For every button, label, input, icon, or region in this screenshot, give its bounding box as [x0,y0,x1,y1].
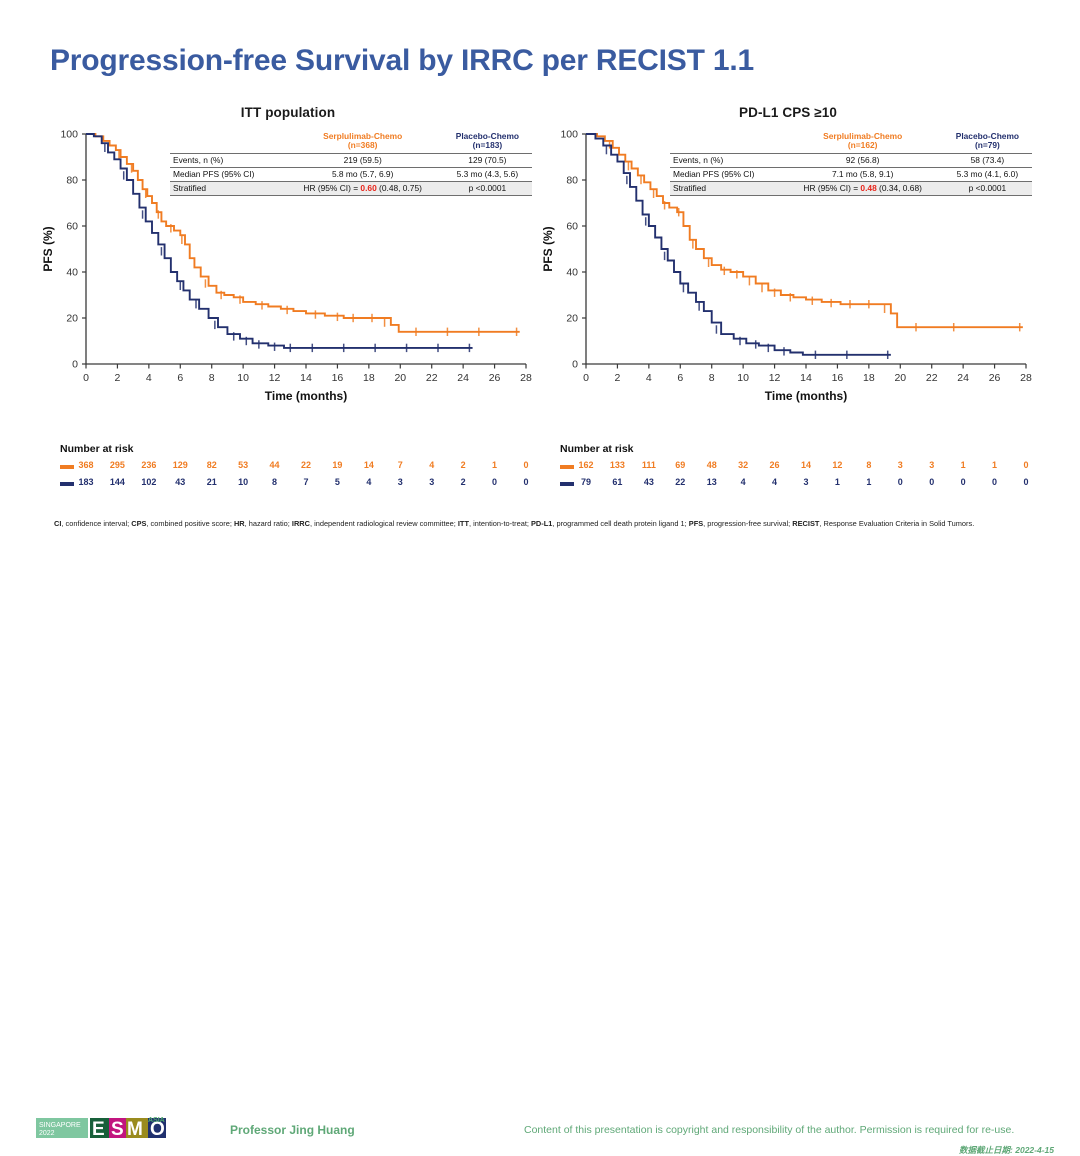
copyright-notice: Content of this presentation is copyrigh… [524,1124,1014,1136]
legend-key-placebo [60,482,74,486]
risk-value: 22 [667,477,693,487]
events-placebo: 58 (73.4) [943,153,1032,167]
risk-value: 0 [513,477,539,487]
median-label: Median PFS (95% CI) [170,167,283,181]
svg-text:8: 8 [709,372,715,384]
svg-text:0: 0 [83,372,89,384]
svg-text:10: 10 [737,372,749,384]
median-serplulimab: 5.8 mo (5.7, 6.9) [283,167,443,181]
risk-value: 53 [230,460,256,470]
svg-text:12: 12 [269,372,281,384]
risk-value: 5 [324,477,350,487]
svg-text:22: 22 [926,372,938,384]
risk-value: 4 [762,477,788,487]
svg-text:2: 2 [615,372,621,384]
risk-value: 13 [699,477,725,487]
risk-value: 4 [419,460,445,470]
risk-value: 1 [482,460,508,470]
stratified-label: Stratified [170,181,283,195]
stats-table-cps10: Serplulimab-Chemo(n=162) Placebo-Chemo(n… [670,130,1032,196]
risk-value: 0 [513,460,539,470]
svg-text:16: 16 [332,372,344,384]
svg-text:14: 14 [300,372,312,384]
panel-itt: ITT population 0204060801000246810121416… [38,105,538,435]
svg-text:0: 0 [583,372,589,384]
number-at-risk-itt: Number at risk 3682952361298253442219147… [60,443,134,494]
risk-row-serplulimab: 36829523612982534422191474210 [60,460,134,477]
table-row: Stratified HR (95% CI) = 0.60 (0.48, 0.7… [170,181,532,195]
risk-value: 43 [167,477,193,487]
risk-value: 61 [604,477,630,487]
risk-value: 133 [604,460,630,470]
risk-value: 7 [293,477,319,487]
esmo-asia-logo: SINGAPORE 2022 E S M O ASIA [36,1116,168,1140]
svg-text:M: M [127,1119,143,1140]
risk-value: 14 [356,460,382,470]
risk-row-placebo: 183144102432110875433200 [60,477,134,494]
number-at-risk-title: Number at risk [60,443,134,455]
svg-text:100: 100 [60,129,78,141]
svg-text:40: 40 [566,267,578,279]
risk-value: 8 [262,477,288,487]
risk-value: 236 [136,460,162,470]
risk-value: 295 [104,460,130,470]
svg-text:20: 20 [894,372,906,384]
legend-key-serplulimab [60,465,74,469]
median-serplulimab: 7.1 mo (5.8, 9.1) [783,167,943,181]
panel-cps10: PD-L1 CPS ≥10 02040608010002468101214161… [538,105,1038,435]
risk-value: 1 [950,460,976,470]
stats-table-itt: Serplulimab-Chemo(n=368) Placebo-Chemo(n… [170,130,532,196]
risk-value: 82 [199,460,225,470]
risk-value: 3 [919,460,945,470]
arm-header-placebo: Placebo-Chemo(n=79) [943,130,1032,153]
svg-text:24: 24 [457,372,469,384]
plot-cps10: 0204060801000246810121416182022242628Tim… [538,126,1038,426]
svg-text:6: 6 [177,372,183,384]
events-label: Events, n (%) [170,153,283,167]
svg-text:E: E [92,1119,105,1140]
svg-text:40: 40 [66,267,78,279]
risk-value: 79 [573,477,599,487]
table-row: Median PFS (95% CI) 5.8 mo (5.7, 6.9) 5.… [170,167,532,181]
risk-value: 44 [262,460,288,470]
pvalue-itt: p <0.0001 [443,181,532,195]
svg-text:S: S [111,1119,124,1140]
svg-text:0: 0 [72,359,78,371]
svg-text:60: 60 [66,221,78,233]
risk-value: 3 [387,477,413,487]
table-row: Events, n (%) 92 (56.8) 58 (73.4) [670,153,1032,167]
svg-text:4: 4 [146,372,152,384]
arm-header-serplulimab: Serplulimab-Chemo(n=368) [283,130,443,153]
risk-value: 2 [450,477,476,487]
risk-value: 4 [356,477,382,487]
svg-text:100: 100 [560,129,578,141]
risk-value: 111 [636,460,662,470]
risk-value: 0 [1013,477,1039,487]
risk-value: 3 [793,477,819,487]
risk-value: 8 [856,460,882,470]
events-placebo: 129 (70.5) [443,153,532,167]
risk-value: 0 [482,477,508,487]
risk-value: 0 [950,477,976,487]
legend-key-serplulimab [560,465,574,469]
panel-title-cps10: PD-L1 CPS ≥10 [538,105,1038,120]
plot-itt: 0204060801000246810121416182022242628Tim… [38,126,538,426]
arm-header-serplulimab: Serplulimab-Chemo(n=162) [783,130,943,153]
svg-text:18: 18 [363,372,375,384]
svg-text:24: 24 [957,372,969,384]
svg-text:PFS (%): PFS (%) [541,226,555,271]
svg-text:26: 26 [489,372,501,384]
risk-value: 1 [856,477,882,487]
risk-value: 22 [293,460,319,470]
risk-value: 7 [387,460,413,470]
svg-text:28: 28 [1020,372,1032,384]
risk-value: 129 [167,460,193,470]
risk-value: 183 [73,477,99,487]
svg-text:12: 12 [769,372,781,384]
svg-text:PFS (%): PFS (%) [41,226,55,271]
risk-value: 3 [419,477,445,487]
risk-value: 69 [667,460,693,470]
risk-row-placebo: 79614322134431100000 [560,477,634,494]
svg-text:2: 2 [115,372,121,384]
risk-value: 43 [636,477,662,487]
risk-value: 1 [982,460,1008,470]
risk-row-serplulimab: 162133111694832261412833110 [560,460,634,477]
risk-value: 26 [762,460,788,470]
legend-key-placebo [560,482,574,486]
risk-value: 2 [450,460,476,470]
svg-text:20: 20 [566,313,578,325]
panel-title-itt: ITT population [38,105,538,120]
svg-text:Time (months): Time (months) [765,389,847,403]
svg-text:80: 80 [66,175,78,187]
page-title: Progression-free Survival by IRRC per RE… [50,44,754,78]
number-at-risk-title: Number at risk [560,443,634,455]
svg-text:28: 28 [520,372,532,384]
footer-bar: SINGAPORE 2022 E S M O ASIA Professor Ji… [0,556,1080,608]
risk-value: 32 [730,460,756,470]
risk-value: 4 [730,477,756,487]
hazard-ratio-itt: HR (95% CI) = 0.60 (0.48, 0.75) [283,181,443,195]
table-row: Stratified HR (95% CI) = 0.48 (0.34, 0.6… [670,181,1032,195]
risk-value: 14 [793,460,819,470]
pvalue-cps10: p <0.0001 [943,181,1032,195]
risk-value: 0 [919,477,945,487]
risk-value: 3 [887,460,913,470]
risk-value: 48 [699,460,725,470]
presenter-name: Professor Jing Huang [230,1123,355,1137]
svg-text:80: 80 [566,175,578,187]
risk-value: 102 [136,477,162,487]
risk-value: 19 [324,460,350,470]
stratified-label: Stratified [670,181,783,195]
table-row: Events, n (%) 219 (59.5) 129 (70.5) [170,153,532,167]
svg-text:26: 26 [989,372,1001,384]
data-cutoff-date: 数据截止日期: 2022-4-15 [959,1144,1054,1156]
svg-text:4: 4 [646,372,652,384]
arm-header-placebo: Placebo-Chemo(n=183) [443,130,532,153]
risk-value: 12 [824,460,850,470]
risk-value: 0 [1013,460,1039,470]
median-placebo: 5.3 mo (4.1, 6.0) [943,167,1032,181]
svg-text:20: 20 [66,313,78,325]
svg-text:10: 10 [237,372,249,384]
svg-text:2022: 2022 [39,1130,55,1137]
number-at-risk-cps10: Number at risk 1621331116948322614128331… [560,443,634,494]
risk-value: 0 [982,477,1008,487]
risk-value: 162 [573,460,599,470]
table-row: Median PFS (95% CI) 7.1 mo (5.8, 9.1) 5.… [670,167,1032,181]
risk-value: 144 [104,477,130,487]
svg-text:SINGAPORE: SINGAPORE [39,1122,81,1129]
abbreviations-footnote: CI, confidence interval; CPS, combined p… [54,518,1044,529]
svg-text:6: 6 [677,372,683,384]
risk-value: 10 [230,477,256,487]
risk-value: 0 [887,477,913,487]
svg-text:16: 16 [832,372,844,384]
svg-text:18: 18 [863,372,875,384]
risk-value: 368 [73,460,99,470]
events-label: Events, n (%) [670,153,783,167]
median-placebo: 5.3 mo (4.3, 5.6) [443,167,532,181]
svg-text:14: 14 [800,372,812,384]
svg-text:20: 20 [394,372,406,384]
median-label: Median PFS (95% CI) [670,167,783,181]
risk-value: 1 [824,477,850,487]
svg-text:60: 60 [566,221,578,233]
hazard-ratio-cps10: HR (95% CI) = 0.48 (0.34, 0.68) [783,181,943,195]
events-serplulimab: 92 (56.8) [783,153,943,167]
svg-text:0: 0 [572,359,578,371]
events-serplulimab: 219 (59.5) [283,153,443,167]
svg-text:Time (months): Time (months) [265,389,347,403]
svg-text:8: 8 [209,372,215,384]
svg-text:ASIA: ASIA [148,1117,165,1124]
svg-text:22: 22 [426,372,438,384]
risk-value: 21 [199,477,225,487]
